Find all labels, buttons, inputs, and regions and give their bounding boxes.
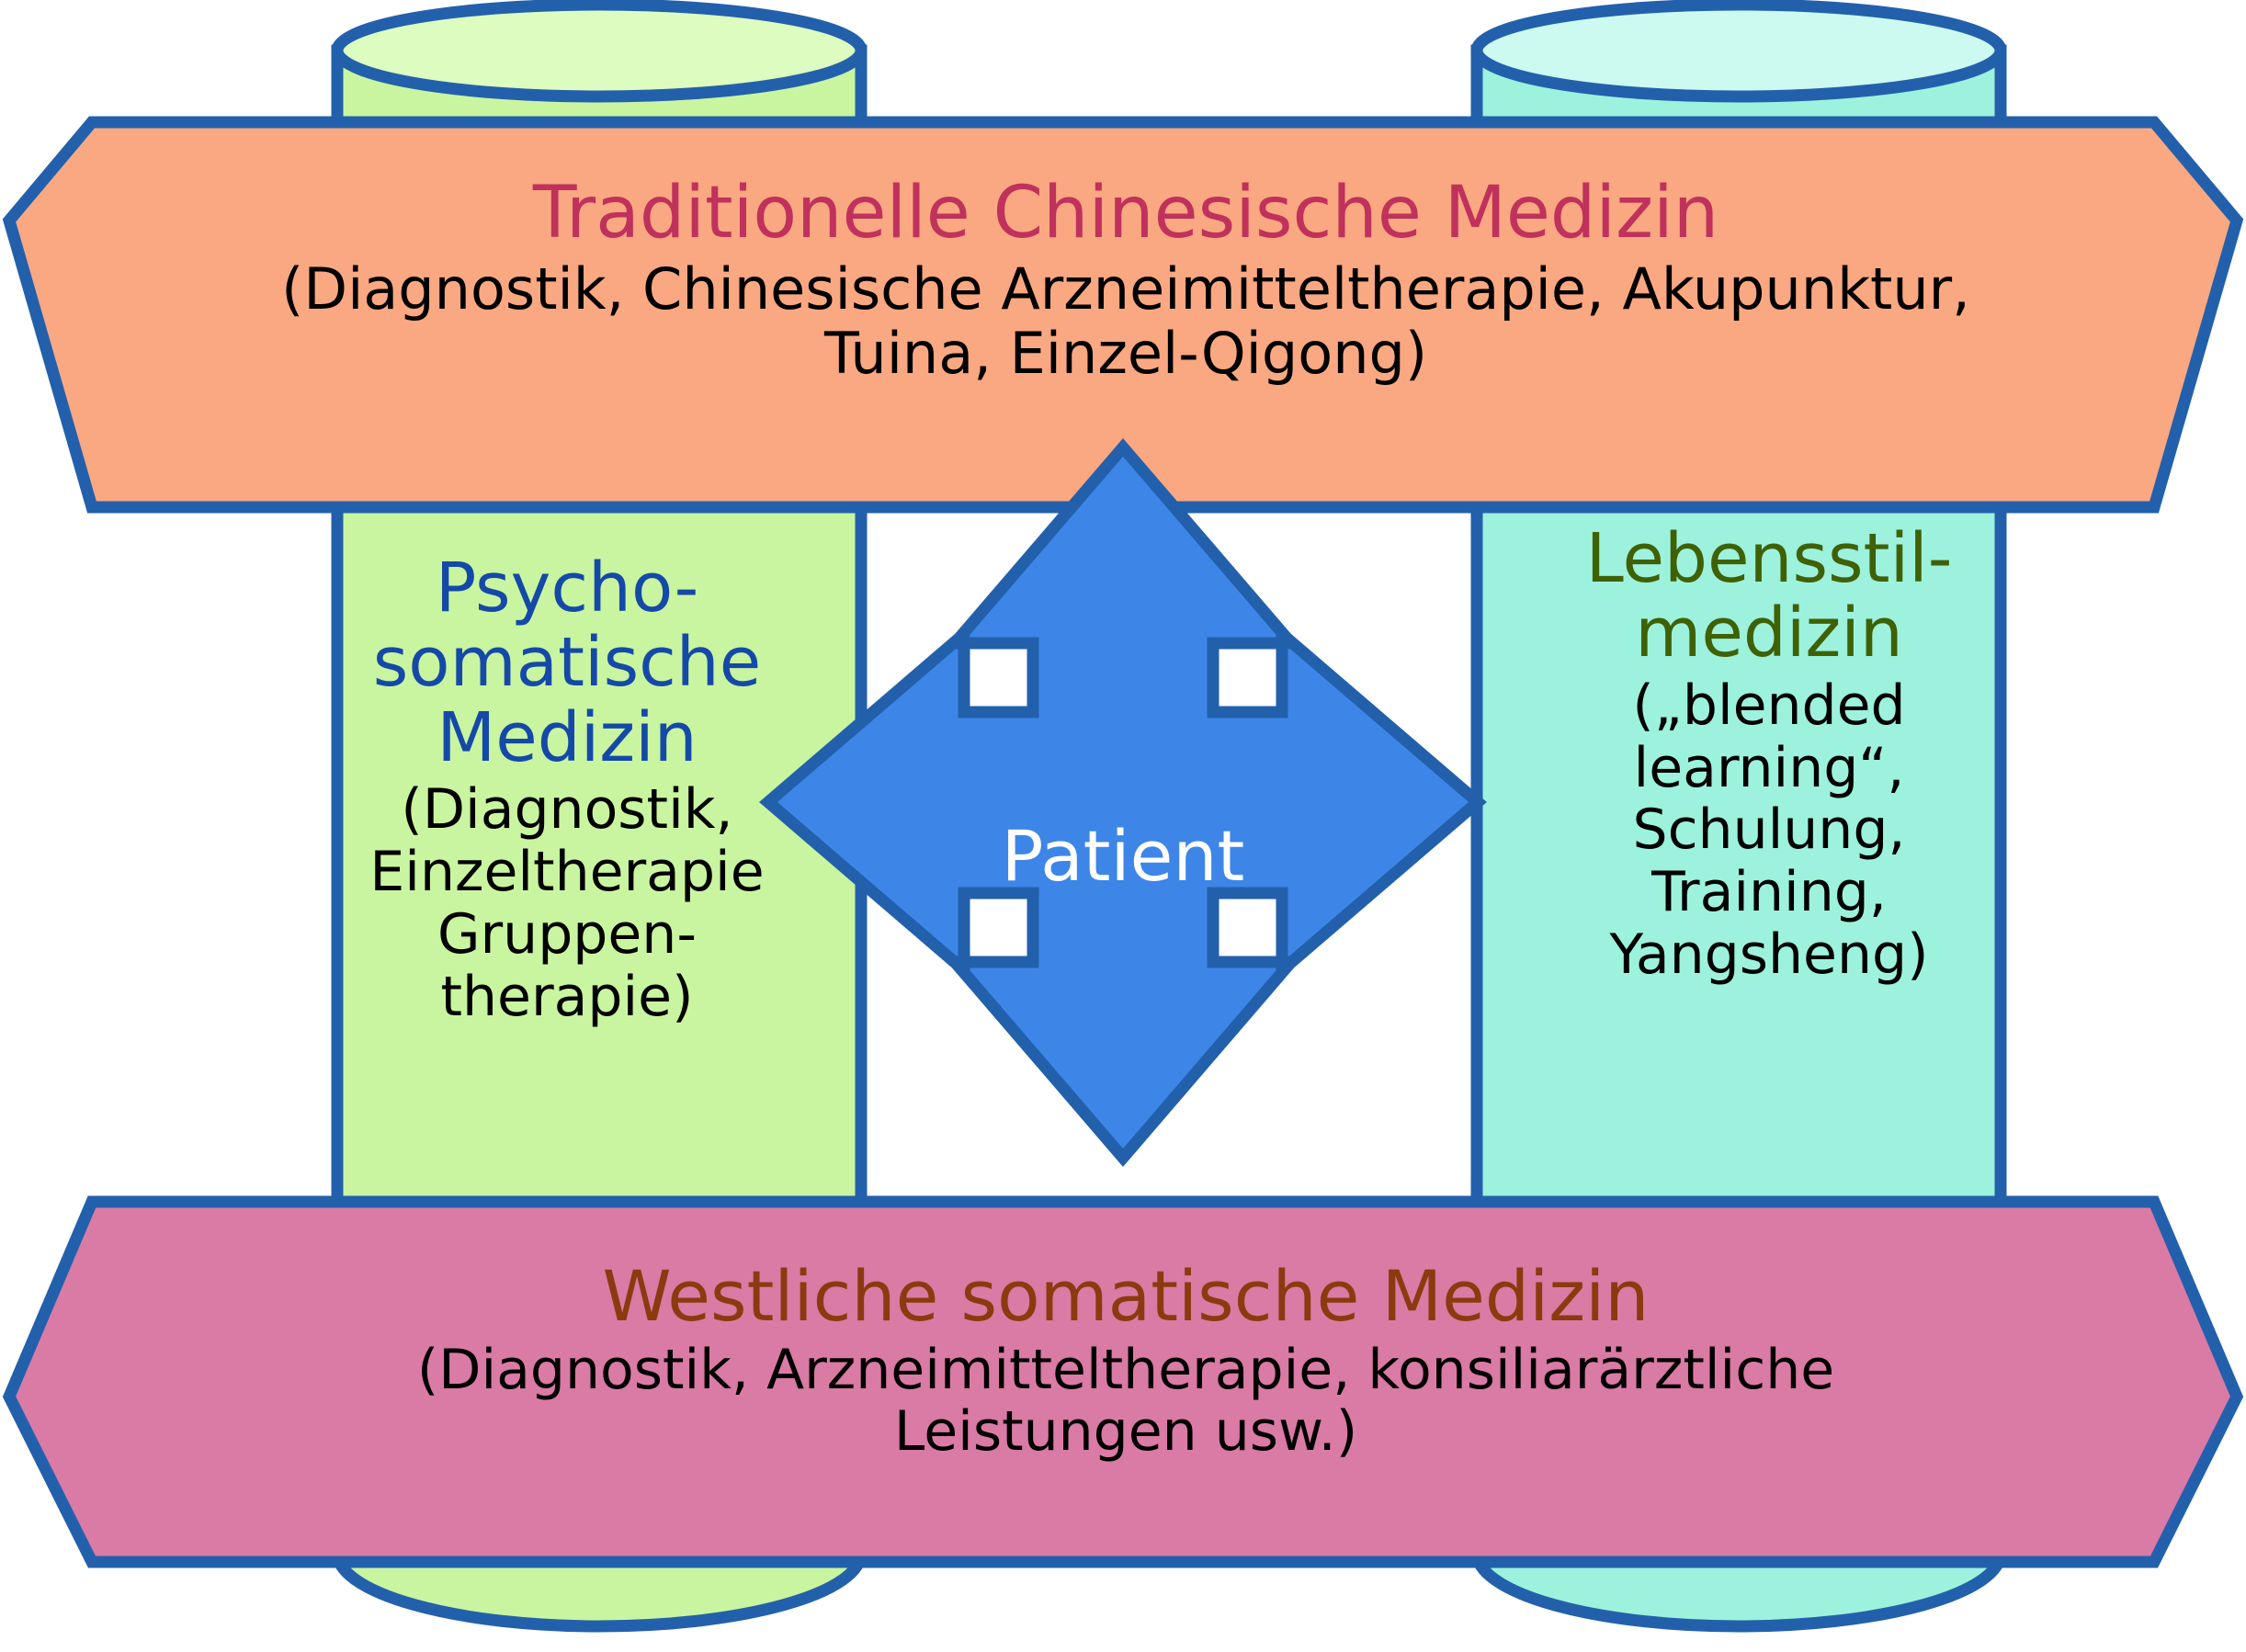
top-banner-subtitle-line-2: Tuina, Einzel-Qigong)	[276, 322, 1976, 385]
left-column-detail: (Diagnostik, Einzeltherapie Gruppen- the…	[333, 779, 801, 1028]
left-column-detail-line-2: Einzeltherapie	[333, 842, 801, 904]
left-column-detail-line-3: Gruppen-	[333, 904, 801, 967]
bottom-banner-subtitle-line-1: (Diagnostik, Arzneimitteltherapie, konsi…	[276, 1340, 1976, 1401]
four-way-arrow-icon[interactable]	[768, 447, 1478, 1158]
left-column-title-line-2: somatische	[333, 626, 801, 700]
diagram-canvas: Traditionelle Chinesische Medizin (Diagn…	[0, 0, 2246, 1652]
right-column-title-line-1: Lebensstil-	[1544, 522, 1994, 596]
top-banner-title: Traditionelle Chinesische Medizin	[276, 175, 1976, 252]
left-column-text-group: Psycho- somatische Medizin (Diagnostik, …	[333, 551, 801, 1028]
top-banner-text-group: Traditionelle Chinesische Medizin (Diagn…	[276, 175, 1976, 385]
right-column-detail-line-1: („blended	[1544, 675, 1994, 738]
top-banner-subtitle: (Diagnostik, Chinesische Arzneimittelthe…	[276, 257, 1976, 385]
left-column-detail-line-4: therapie)	[333, 967, 801, 1029]
bottom-banner-subtitle-line-2: Leistungen usw.)	[276, 1401, 1976, 1463]
top-banner-subtitle-line-1: (Diagnostik, Chinesische Arzneimittelthe…	[276, 257, 1976, 321]
left-column-title-line-3: Medizin	[333, 701, 801, 775]
right-column-detail-line-3: Schulung,	[1544, 799, 1994, 862]
patient-label: Patient	[939, 820, 1307, 893]
right-column-detail-line-4: Training,	[1544, 862, 1994, 924]
left-column-detail-line-1: (Diagnostik,	[333, 779, 801, 842]
left-column-title-line-1: Psycho-	[333, 551, 801, 626]
left-cylinder-top	[337, 5, 861, 96]
right-column-detail-line-2: learning“,	[1544, 738, 1994, 800]
bottom-banner-subtitle: (Diagnostik, Arzneimitteltherapie, konsi…	[276, 1340, 1976, 1463]
left-column-title: Psycho- somatische Medizin	[333, 551, 801, 775]
right-cylinder-top	[1477, 5, 2001, 96]
bottom-banner-title: Westliche somatische Medizin	[276, 1259, 1976, 1334]
diagram-text-layer: Traditionelle Chinesische Medizin (Diagn…	[0, 0, 2246, 1652]
right-column-title: Lebensstil- medizin	[1544, 522, 1994, 672]
right-column-detail-line-5: Yangsheng)	[1544, 924, 1994, 987]
right-column-text-group: Lebensstil- medizin („blended learning“,…	[1544, 522, 1994, 987]
right-column-detail: („blended learning“, Schulung, Training,…	[1544, 675, 1994, 987]
right-column-title-line-2: medizin	[1544, 596, 1994, 671]
bottom-banner-text-group: Westliche somatische Medizin (Diagnostik…	[276, 1259, 1976, 1463]
